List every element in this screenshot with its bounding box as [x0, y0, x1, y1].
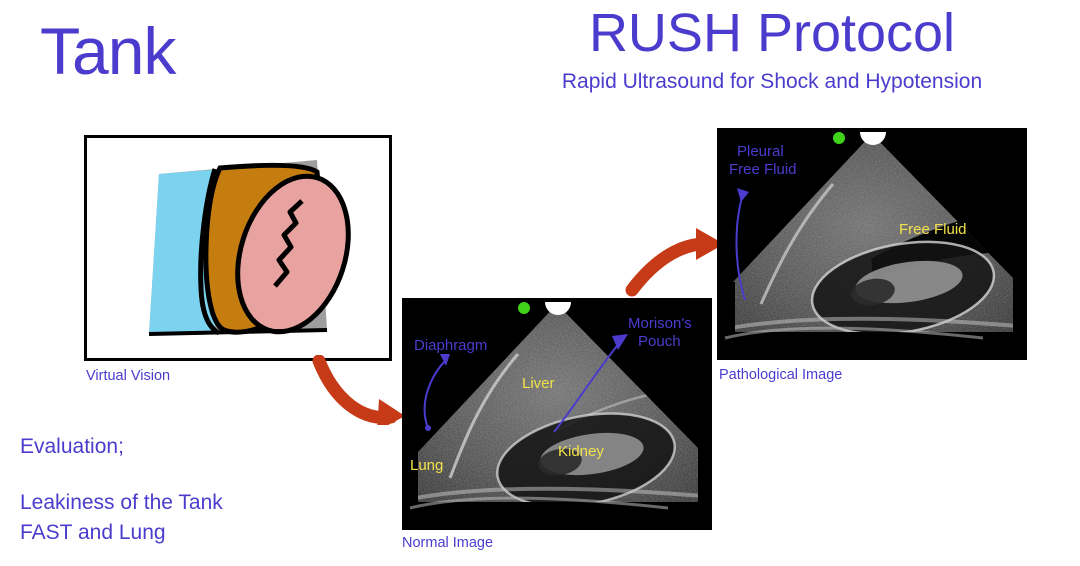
normal-ultrasound-image: Diaphragm Lung Liver Kidney Morison's Po…: [406, 302, 708, 526]
label-pouch: Pouch: [638, 333, 681, 350]
orientation-marker-dot: [518, 302, 530, 314]
virtual-vision-panel: [84, 135, 392, 361]
label-pleural: Pleural: [737, 143, 784, 160]
orientation-marker-dot: [833, 132, 845, 144]
pathological-image-panel: Pleural Free Fluid Free Fluid: [717, 128, 1027, 360]
virtual-vision-caption: Virtual Vision: [86, 367, 170, 385]
pleural-fluid-region: [721, 282, 735, 332]
spacer: [20, 462, 223, 488]
label-morisons: Morison's: [628, 315, 692, 332]
normal-image-panel: Diaphragm Lung Liver Kidney Morison's Po…: [402, 298, 712, 530]
label-liver: Liver: [522, 375, 555, 392]
label-diaphragm: Diaphragm: [414, 337, 487, 354]
page-subtitle: Rapid Ultrasound for Shock and Hypotensi…: [502, 70, 1042, 94]
virtual-vision-illustration: [87, 138, 389, 358]
evaluation-block: Evaluation; Leakiness of the Tank FAST a…: [20, 432, 223, 548]
pathological-ultrasound-image: Pleural Free Fluid Free Fluid: [721, 132, 1023, 356]
label-free-fluid-pleural: Free Fluid: [729, 161, 797, 178]
diaphragm-anchor: [425, 425, 431, 431]
label-free-fluid: Free Fluid: [899, 221, 967, 238]
section-title: Tank: [40, 18, 175, 84]
page-title: RUSH Protocol: [512, 4, 1032, 62]
evaluation-line-1: Leakiness of the Tank: [20, 488, 223, 518]
evaluation-heading: Evaluation;: [20, 432, 223, 462]
label-lung: Lung: [410, 457, 443, 474]
label-kidney: Kidney: [558, 443, 604, 460]
normal-image-caption: Normal Image: [402, 534, 493, 552]
evaluation-line-2: FAST and Lung: [20, 518, 223, 548]
pathological-image-caption: Pathological Image: [719, 366, 842, 384]
